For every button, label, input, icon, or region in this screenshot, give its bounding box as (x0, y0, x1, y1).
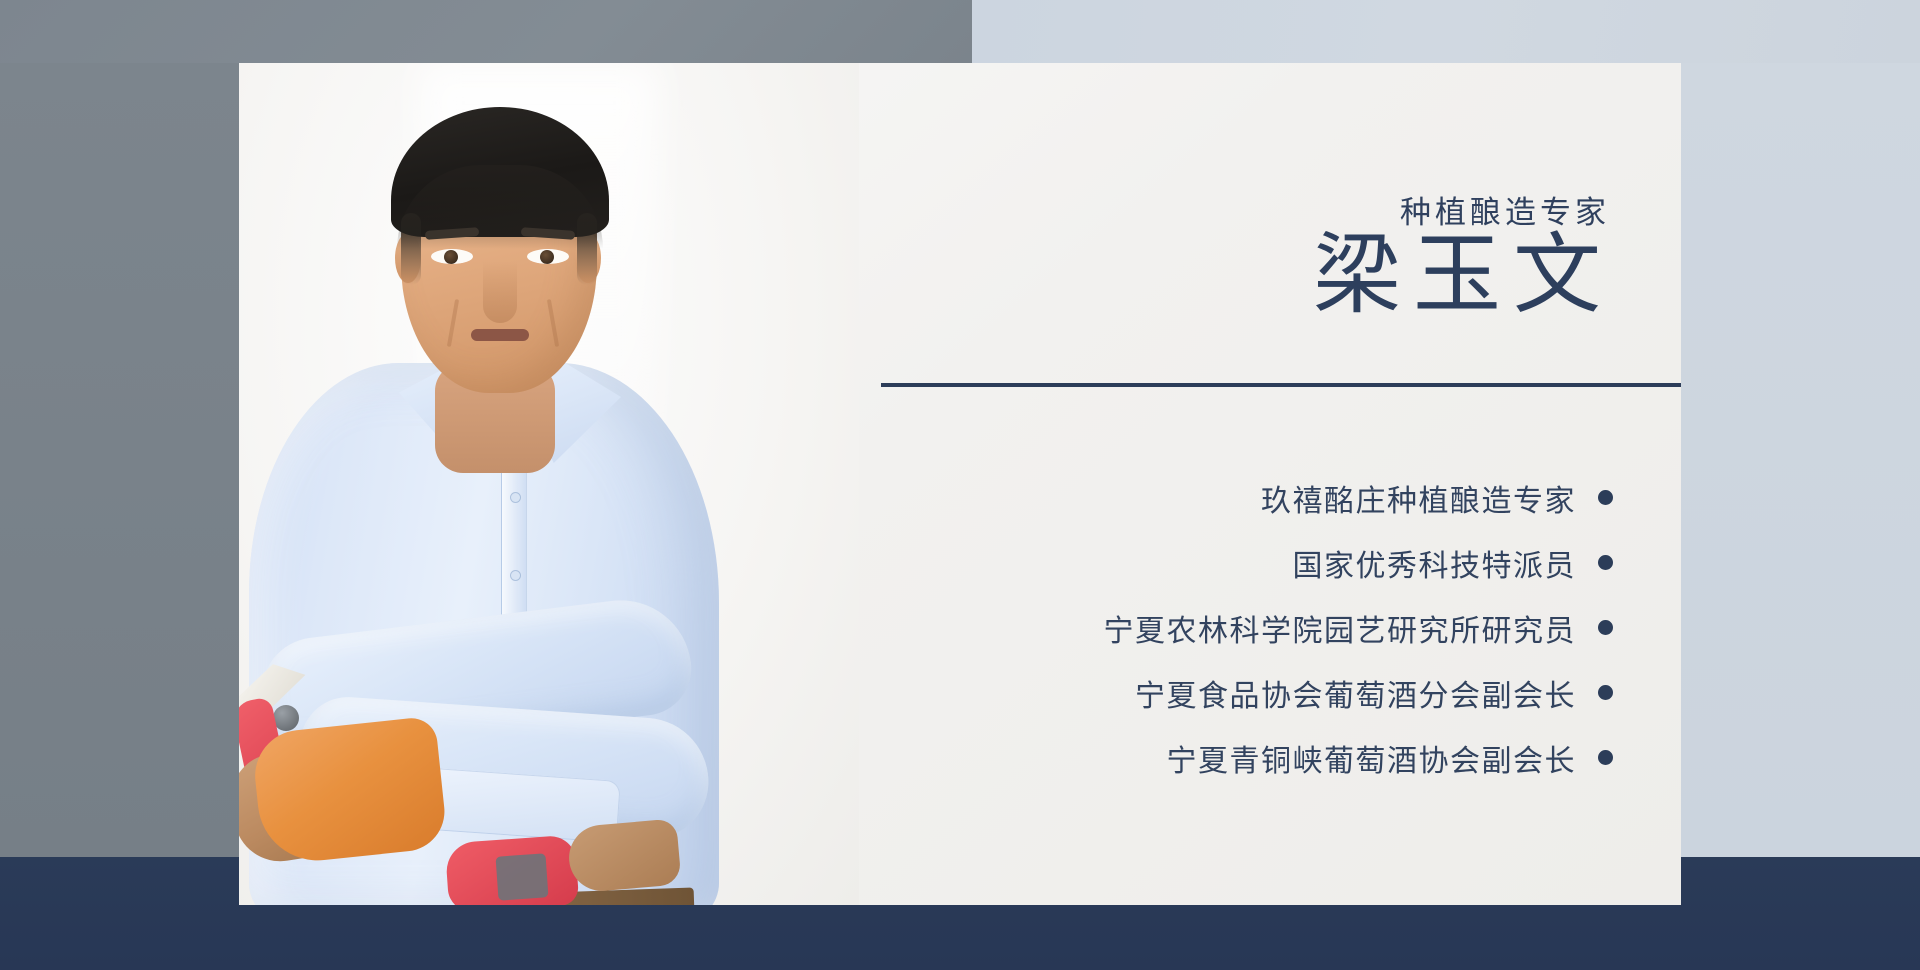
profile-card: 种植酿造专家 梁玉文 玖禧酩庄种植酿造专家 国家优秀科技特派员 宁夏农林科学院园… (239, 63, 1681, 905)
background-lightblue-top-block (972, 0, 1920, 63)
pruning-shears-pivot (273, 705, 299, 731)
bullet-dot-icon (1598, 490, 1613, 505)
divider-line (881, 383, 1681, 387)
iris-right (540, 250, 554, 264)
list-item: 玖禧酩庄种植酿造专家 (873, 471, 1613, 524)
eye-left (431, 249, 473, 264)
iris-left (444, 250, 458, 264)
person-name: 梁玉文 (1313, 229, 1613, 324)
work-glove-second (566, 818, 681, 893)
bullet-dot-icon (1598, 750, 1613, 765)
pruning-shears-label (496, 853, 549, 900)
sideburn-left (401, 213, 421, 285)
role-subtitle: 种植酿造专家 (1400, 187, 1610, 232)
credentials-list: 玖禧酩庄种植酿造专家 国家优秀科技特派员 宁夏农林科学院园艺研究所研究员 宁夏食… (873, 471, 1613, 796)
credential-label: 宁夏农林科学院园艺研究所研究员 (1104, 606, 1577, 650)
background-gray-top-block (0, 0, 972, 63)
credential-label: 玖禧酩庄种植酿造专家 (1261, 476, 1576, 520)
bullet-dot-icon (1598, 555, 1613, 570)
mouth (471, 329, 529, 341)
nose (483, 261, 517, 323)
credential-label: 国家优秀科技特派员 (1293, 541, 1577, 585)
sideburn-right (577, 213, 597, 285)
list-item: 宁夏农林科学院园艺研究所研究员 (873, 601, 1613, 654)
bullet-dot-icon (1598, 620, 1613, 635)
shirt-button (511, 571, 520, 580)
work-glove (251, 716, 449, 867)
credential-label: 宁夏青铜峡葡萄酒协会副会长 (1167, 736, 1577, 780)
background-gray-left-block (0, 63, 239, 857)
credential-label: 宁夏食品协会葡萄酒分会副会长 (1135, 671, 1576, 715)
list-item: 国家优秀科技特派员 (873, 536, 1613, 589)
background-lightblue-right-block (1681, 63, 1920, 857)
portrait-photo (239, 63, 859, 905)
eye-right (527, 249, 569, 264)
list-item: 宁夏食品协会葡萄酒分会副会长 (873, 666, 1613, 719)
poster-stage: 种植酿造专家 梁玉文 玖禧酩庄种植酿造专家 国家优秀科技特派员 宁夏农林科学院园… (0, 0, 1920, 970)
info-column: 种植酿造专家 梁玉文 玖禧酩庄种植酿造专家 国家优秀科技特派员 宁夏农林科学院园… (859, 63, 1681, 905)
list-item: 宁夏青铜峡葡萄酒协会副会长 (873, 731, 1613, 784)
bullet-dot-icon (1598, 685, 1613, 700)
shirt-button (511, 493, 520, 502)
